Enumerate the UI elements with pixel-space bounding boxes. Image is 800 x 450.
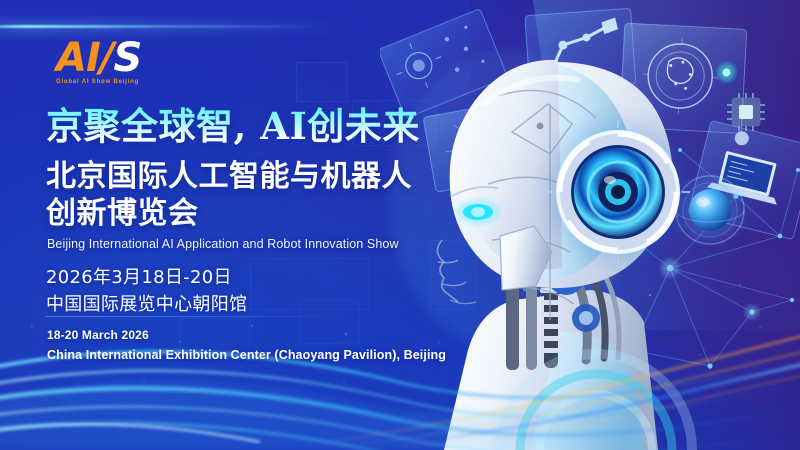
brain-circuit-icon xyxy=(640,36,720,116)
network-nodes-icon xyxy=(600,148,800,369)
event-venue-chinese: 中国国际展览中心朝阳馆 xyxy=(46,290,247,316)
poster-canvas: AI/S Global AI Show Beijing 京聚全球智, AI创未来… xyxy=(0,0,800,450)
background-rect xyxy=(430,240,476,310)
text-divider xyxy=(46,316,346,317)
background-violet-glow xyxy=(470,0,800,450)
page-title: 京聚全球智, AI创未来 xyxy=(46,104,420,148)
tech-panel-group xyxy=(380,8,800,239)
logo-slash-icon: / xyxy=(100,35,114,81)
chip-icon xyxy=(727,93,765,131)
logo-s-text: S xyxy=(113,35,141,81)
event-name-english: Beijing International AI Application and… xyxy=(47,237,399,251)
chest-arc xyxy=(500,354,692,450)
robot-eye xyxy=(538,112,698,272)
robot-face-eye xyxy=(456,199,500,225)
eye-scan-icon xyxy=(440,108,529,181)
background-rect xyxy=(250,258,370,310)
event-name-chinese: 北京国际人工智能与机器人 创新博览会 xyxy=(46,158,412,232)
logo-wordmark: AI/S xyxy=(56,38,141,78)
light-ray-icon xyxy=(0,25,320,28)
background-rect xyxy=(300,300,360,344)
event-venue-english: China International Exhibition Center (C… xyxy=(47,348,446,362)
brand-logo: AI/S Global AI Show Beijing xyxy=(56,38,141,85)
artwork-panel xyxy=(380,0,800,450)
robot-arm-icon xyxy=(546,28,607,76)
event-date-english: 18-20 March 2026 xyxy=(47,328,149,342)
network-sphere-icon xyxy=(676,176,744,244)
event-date-chinese: 2026年3月18日-20日 xyxy=(46,263,232,289)
light-ray-glow xyxy=(0,20,360,34)
gears-icon xyxy=(505,247,600,332)
particle-field-left xyxy=(20,308,440,428)
logo-ai-text: AI xyxy=(56,35,100,81)
particle-field-right xyxy=(530,265,790,395)
laptop-code-icon xyxy=(707,148,787,204)
gears-icon xyxy=(577,118,627,165)
robot-head-profile xyxy=(390,50,698,450)
logo-tagline: Global AI Show Beijing xyxy=(56,79,141,85)
background-rect xyxy=(296,62,348,102)
neck-mechanism xyxy=(506,258,619,370)
